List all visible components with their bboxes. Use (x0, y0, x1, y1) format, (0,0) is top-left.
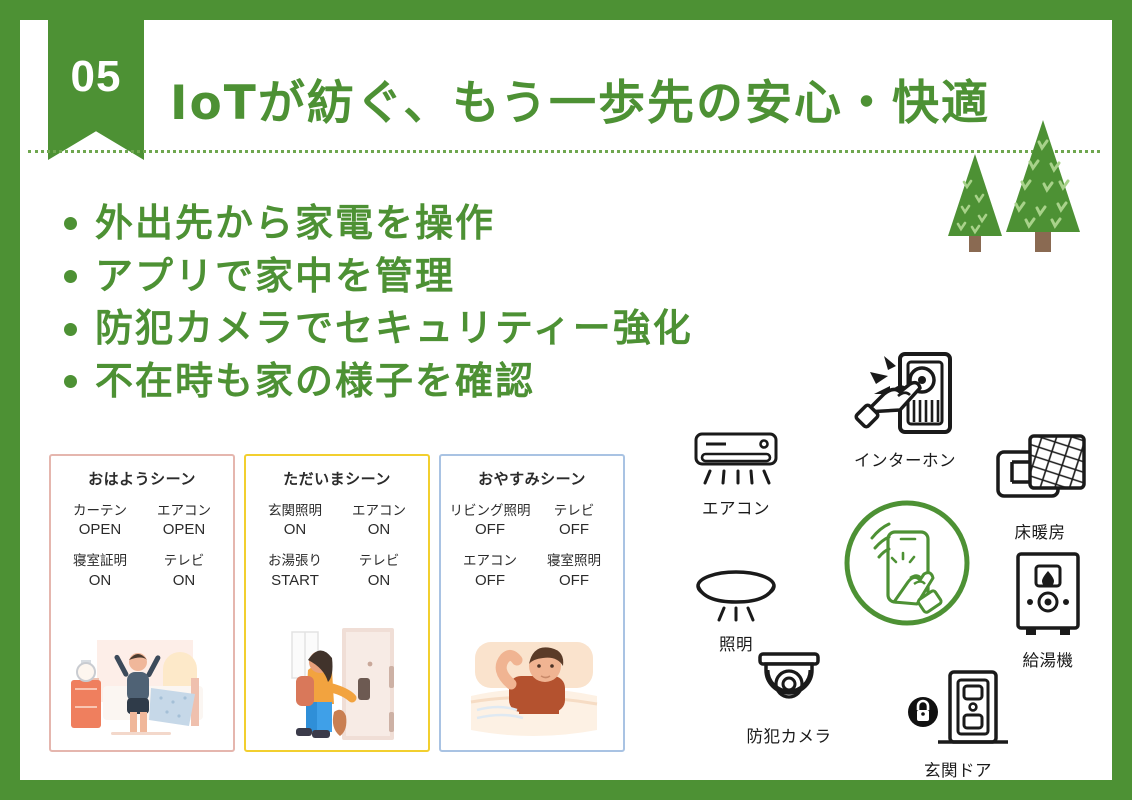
scene-device-grid: 玄関照明 ON エアコン ON お湯張り START テレビ ON (254, 503, 420, 590)
device-water-heater: 給湯機 (1008, 550, 1088, 671)
scene-card-morning: おはようシーン カーテン OPEN エアコン OPEN 寝室証明 ON テレビ … (49, 454, 235, 752)
device-name: テレビ (338, 553, 420, 570)
device-name: お湯張り (254, 553, 336, 570)
section-number-ribbon: 05 (48, 0, 144, 160)
scene-device-item: お湯張り START (254, 553, 336, 589)
device-security-camera: 防犯カメラ (746, 650, 832, 747)
scene-device-item: リビング照明 OFF (449, 503, 531, 539)
bullet-dot-icon (64, 323, 77, 336)
scene-device-item: テレビ OFF (533, 503, 615, 539)
illustration-man-sleeping-in-bed (441, 626, 623, 744)
bullet-dot-icon (64, 375, 77, 388)
scene-device-item: テレビ ON (338, 553, 420, 589)
list-item: 不在時も家の様子を確認 (64, 360, 693, 404)
scene-card-title: おはようシーン (59, 468, 225, 489)
air-conditioner-icon (688, 428, 784, 495)
security-camera-icon (746, 650, 832, 723)
device-name: 寝室照明 (533, 553, 615, 570)
ceiling-light-icon (688, 568, 784, 631)
scene-device-item: 寝室証明 ON (59, 553, 141, 589)
scene-device-item: エアコン ON (338, 503, 420, 539)
device-caption: 玄関ドア (924, 761, 992, 780)
bullet-dot-icon (64, 217, 77, 230)
water-heater-icon (1008, 550, 1088, 647)
slide: 05 IoTが紡ぐ、もう一歩先の安心・快適 (20, 20, 1112, 780)
smartphone-tap-icon (842, 498, 972, 633)
bullet-text: 外出先から家電を操作 (95, 202, 495, 246)
device-air-conditioner: エアコン (688, 428, 784, 519)
device-front-door: 玄関ドア (906, 670, 1010, 781)
device-caption: エアコン (702, 499, 770, 518)
device-state: ON (338, 520, 420, 539)
device-name: リビング照明 (449, 503, 531, 520)
scene-device-item: エアコン OPEN (143, 503, 225, 539)
device-state: OFF (449, 571, 531, 590)
bullet-text: 防犯カメラでセキュリティー強化 (95, 307, 693, 351)
device-name: 寝室証明 (59, 553, 141, 570)
scene-card-homecoming: ただいまシーン 玄関照明 ON エアコン ON お湯張り START テレビ O… (244, 454, 430, 752)
device-state: START (254, 571, 336, 590)
pine-trees-decoration (934, 112, 1094, 272)
illustration-woman-unlocking-front-door (246, 626, 428, 744)
bullet-text: アプリで家中を管理 (95, 255, 455, 299)
device-state: ON (143, 571, 225, 590)
bullet-text: 不在時も家の様子を確認 (95, 360, 535, 404)
device-name: 玄関照明 (254, 503, 336, 520)
device-name: テレビ (143, 553, 225, 570)
scene-device-item: 玄関照明 ON (254, 503, 336, 539)
scene-card-title: ただいまシーン (254, 468, 420, 489)
scene-device-item: エアコン OFF (449, 553, 531, 589)
device-state: OPEN (59, 520, 141, 539)
device-caption: インターホン (854, 451, 956, 470)
device-name: テレビ (533, 503, 615, 520)
scene-card-list: おはようシーン カーテン OPEN エアコン OPEN 寝室証明 ON テレビ … (49, 454, 625, 752)
device-state: ON (59, 571, 141, 590)
scene-card-title: おやすみシーン (449, 468, 615, 489)
scene-device-grid: リビング照明 OFF テレビ OFF エアコン OFF 寝室照明 OFF (449, 503, 615, 590)
device-name: エアコン (449, 553, 531, 570)
device-caption: 給湯機 (1023, 651, 1074, 670)
scene-device-grid: カーテン OPEN エアコン OPEN 寝室証明 ON テレビ ON (59, 503, 225, 590)
device-state: ON (254, 520, 336, 539)
scene-card-goodnight: おやすみシーン リビング照明 OFF テレビ OFF エアコン OFF 寝室照明… (439, 454, 625, 752)
front-door-icon (906, 670, 1010, 757)
floor-heating-icon (992, 432, 1088, 519)
device-name: カーテン (59, 503, 141, 520)
device-floor-heating: 床暖房 (992, 432, 1088, 543)
device-ceiling-light: 照明 (688, 568, 784, 655)
bullet-list: 外出先から家電を操作 アプリで家中を管理 防犯カメラでセキュリティー強化 不在時… (64, 202, 693, 413)
smart-device-cluster: エアコン (670, 350, 1110, 770)
device-state: OFF (533, 571, 615, 590)
device-smartphone-hub (842, 498, 972, 633)
device-state: OFF (533, 520, 615, 539)
illustration-woman-stretching-bedroom (51, 626, 233, 744)
device-caption: 床暖房 (1015, 523, 1066, 542)
device-caption: 防犯カメラ (747, 727, 832, 746)
device-intercom: インターホン (850, 350, 960, 471)
page-title: IoTが紡ぐ、もう一歩先の安心・快適 (170, 64, 990, 133)
intercom-icon (850, 350, 960, 447)
device-state: OPEN (143, 520, 225, 539)
scene-device-item: テレビ ON (143, 553, 225, 589)
device-state: OFF (449, 520, 531, 539)
scene-device-item: カーテン OPEN (59, 503, 141, 539)
list-item: 防犯カメラでセキュリティー強化 (64, 307, 693, 351)
device-name: エアコン (338, 503, 420, 520)
device-name: エアコン (143, 503, 225, 520)
bullet-dot-icon (64, 270, 77, 283)
device-state: ON (338, 571, 420, 590)
scene-device-item: 寝室照明 OFF (533, 553, 615, 589)
section-number: 05 (71, 52, 122, 102)
list-item: アプリで家中を管理 (64, 255, 693, 299)
list-item: 外出先から家電を操作 (64, 202, 693, 246)
